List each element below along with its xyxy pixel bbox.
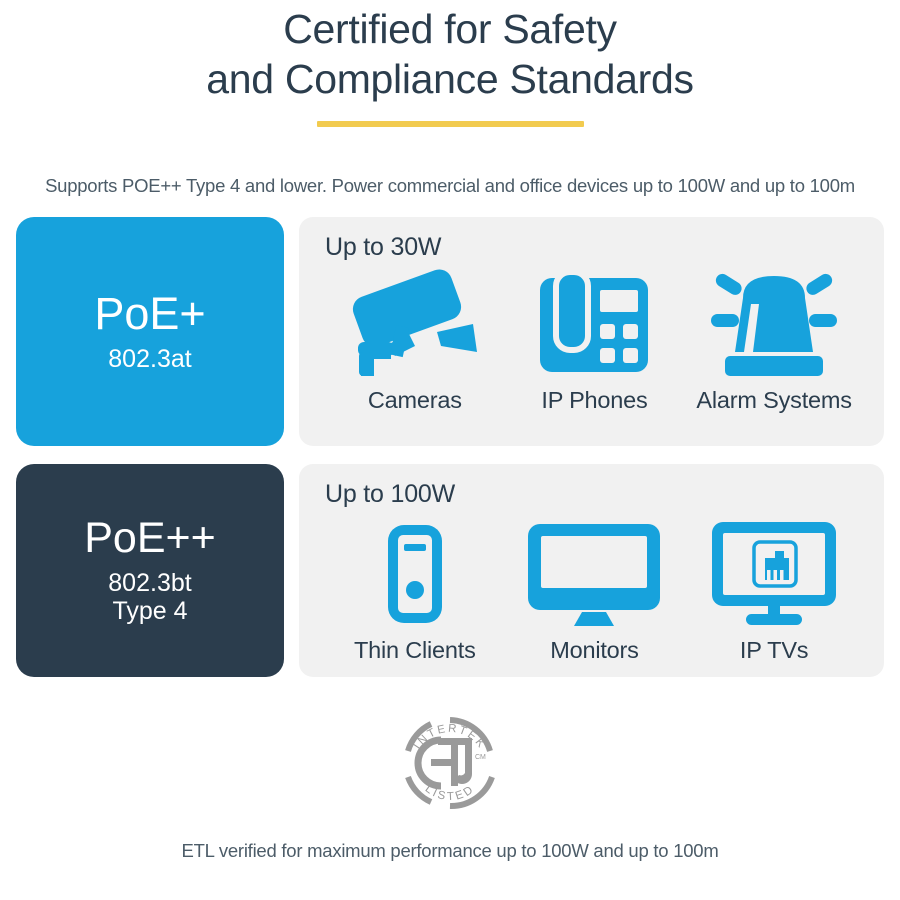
device-label: Cameras (368, 387, 462, 414)
footer: CM INTERTEK LISTED ETL verified for maxi… (0, 707, 900, 862)
tier-panel-poe-plus-plus: Up to 100W Thin Clients (299, 464, 884, 677)
tier-badge-subtitle-line-1: 802.3bt (108, 569, 191, 597)
etl-logo-wrap: CM INTERTEK LISTED (0, 707, 900, 824)
monitor-icon (526, 511, 662, 626)
device-label: Alarm Systems (696, 387, 851, 414)
footer-caption: ETL verified for maximum performance up … (0, 840, 900, 862)
etl-mark-superscript: CM (475, 754, 486, 761)
header-subtitle: Supports POE++ Type 4 and lower. Power c… (0, 175, 900, 197)
tier-panel-poe-plus: Up to 30W (299, 217, 884, 446)
device-item-cameras: Cameras (326, 264, 504, 414)
tier-badge-title: PoE+ (94, 290, 205, 337)
device-item-monitors: Monitors (506, 511, 684, 664)
tier-badge-poe-plus-plus: PoE++ 802.3bt Type 4 (16, 464, 284, 677)
device-item-ip-tvs: IP TVs (685, 511, 863, 664)
tier-badge-subtitle: 802.3bt Type 4 (108, 569, 191, 625)
device-item-alarm-systems: Alarm Systems (685, 264, 863, 414)
security-camera-icon (349, 264, 481, 376)
device-label: IP Phones (541, 387, 647, 414)
tier-badge-poe-plus: PoE+ 802.3at (16, 217, 284, 446)
alarm-siren-icon (699, 264, 849, 376)
desk-phone-icon (538, 264, 650, 376)
header: Certified for Safety and Compliance Stan… (0, 0, 900, 197)
ip-tv-ethernet-icon (710, 511, 838, 626)
device-list-30w: Cameras (325, 264, 864, 414)
tier-list: PoE+ 802.3at Up to 30W (0, 217, 900, 677)
device-label: IP TVs (740, 637, 808, 664)
device-label: Thin Clients (354, 637, 476, 664)
tier-row-poe-plus: PoE+ 802.3at Up to 30W (16, 217, 884, 446)
tier-badge-title: PoE++ (84, 516, 216, 561)
thin-client-tower-icon (384, 511, 446, 626)
title-accent-rule (317, 121, 584, 127)
page-title-line-1: Certified for Safety (0, 4, 900, 54)
tier-badge-subtitle-line-2: Type 4 (108, 597, 191, 625)
tier-row-poe-plus-plus: PoE++ 802.3bt Type 4 Up to 100W (16, 464, 884, 677)
etl-intertek-listed-logo-icon: CM INTERTEK LISTED (391, 707, 509, 824)
power-heading-30w: Up to 30W (325, 233, 864, 262)
page-title-line-2: and Compliance Standards (0, 54, 900, 104)
device-item-thin-clients: Thin Clients (326, 511, 504, 664)
tier-badge-subtitle: 802.3at (108, 345, 191, 373)
infographic-page: Certified for Safety and Compliance Stan… (0, 0, 900, 900)
power-heading-100w: Up to 100W (325, 480, 864, 509)
device-list-100w: Thin Clients Monitors (325, 511, 864, 664)
device-label: Monitors (550, 637, 639, 664)
device-item-ip-phones: IP Phones (506, 264, 684, 414)
